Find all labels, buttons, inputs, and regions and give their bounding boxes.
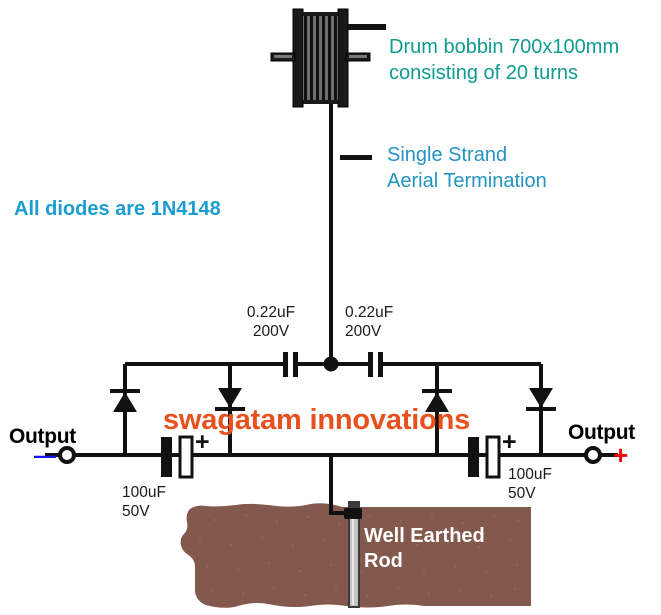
earth-rod-label-line1: Well Earthed [364, 524, 485, 549]
schematic-svg [0, 0, 661, 615]
bobbin-note-line2: consisting of 20 turns [389, 62, 578, 86]
aerial-note-line2: Aerial Termination [387, 170, 547, 194]
circuit-diagram-canvas: Drum bobbin 700x100mm consisting of 20 t… [0, 0, 661, 615]
output-polarity-positive: + [613, 440, 628, 471]
output-polarity-negative: — [34, 443, 56, 469]
cap-hv-left-label-line2: 200V [232, 323, 310, 341]
aerial-termination-leader [340, 155, 372, 160]
aerial-note-line1: Single Strand [387, 144, 507, 168]
cap-elec-left-label-line2: 50V [122, 503, 202, 521]
capacitor-hv-right [331, 352, 387, 377]
bobbin-note-line1: Drum bobbin 700x100mm [389, 36, 619, 60]
aerial-junction-node [324, 357, 339, 372]
cap-hv-right-label-line2: 200V [345, 323, 423, 341]
cap-elec-right-polarity: + [502, 428, 517, 457]
diode-d1 [110, 391, 140, 412]
capacitor-hv-left [279, 352, 331, 377]
watermark-text: swagatam innovations [163, 403, 470, 437]
cap-elec-right-label-line1: 100uF [508, 466, 588, 484]
cap-hv-right-label-line1: 0.22uF [345, 304, 423, 322]
diode-d4 [526, 388, 556, 409]
cap-elec-left-label-line1: 100uF [122, 484, 202, 502]
cap-hv-left-label-line1: 0.22uF [232, 304, 310, 322]
bobbin-leader [348, 24, 386, 30]
cap-elec-right-label-line2: 50V [508, 485, 588, 503]
diodes-note: All diodes are 1N4148 [14, 198, 221, 222]
earth-rod-label-line2: Rod [364, 549, 403, 574]
